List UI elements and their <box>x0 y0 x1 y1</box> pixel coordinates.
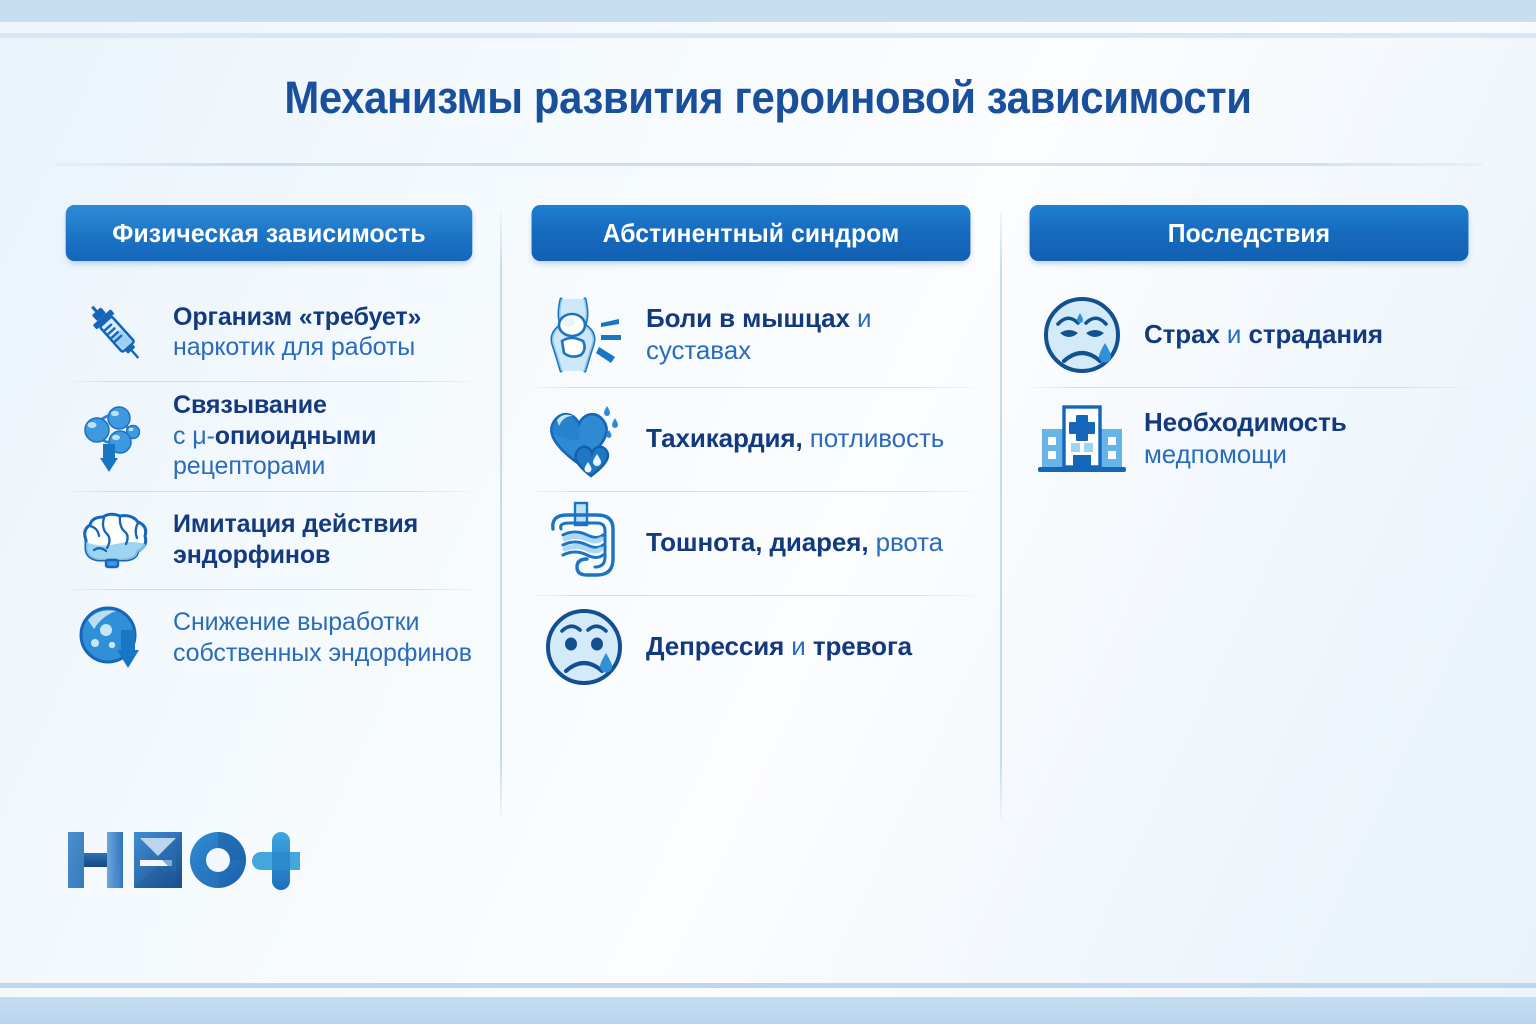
list-item-text: Связывание с μ-опиоидными рецепторами <box>173 390 376 482</box>
column-physical-dependence: Физическая зависимость <box>55 205 483 687</box>
list-item[interactable]: Снижение выработки собственных эндорфино… <box>55 589 483 687</box>
list-item-text: Необходимость медпомощи <box>1144 407 1347 470</box>
top-band <box>0 0 1536 22</box>
list-item[interactable]: Имитация действия эндорфинов <box>55 491 483 589</box>
list-item-text: Снижение выработки собственных эндорфино… <box>173 607 472 668</box>
list-item-text: Тошнота, диарея, рвота <box>646 527 943 559</box>
list-item-text: Депрессия и тревога <box>646 631 912 663</box>
item-line-3: рецепторами <box>173 452 325 480</box>
endorphin-decline-icon <box>73 598 157 678</box>
columns-container: Физическая зависимость <box>0 205 1536 825</box>
column-withdrawal-syndrome: Абстинентный синдром <box>520 205 982 699</box>
item-line-1c: тревога <box>813 631 912 661</box>
item-line-2: медпомощи <box>1144 439 1287 469</box>
item-line-2a: с μ- <box>173 422 215 450</box>
column-header-2: Абстинентный синдром <box>532 205 971 261</box>
column-1-items: Организм «требует» наркотик для работы <box>55 283 483 687</box>
molecule-receptor-icon <box>73 396 157 476</box>
list-item[interactable]: Боли в мышцах и суставах <box>520 283 982 387</box>
title-divider <box>55 163 1482 166</box>
heart-sweat-icon <box>538 396 630 482</box>
list-item[interactable]: Организм «требует» наркотик для работы <box>55 283 483 381</box>
item-line-1: Необходимость <box>1144 407 1347 437</box>
item-line-1b: потливость <box>803 423 945 453</box>
item-line-2: эндорфинов <box>173 541 330 569</box>
column-divider-1 <box>500 211 502 819</box>
item-line-1b: рвота <box>868 527 943 557</box>
item-line-1: Связывание <box>173 391 327 419</box>
list-item[interactable]: Необходимость медпомощи <box>1018 387 1480 491</box>
item-line-2b: опиоидными <box>215 422 377 450</box>
list-item[interactable]: Тахикардия, потливость <box>520 387 982 491</box>
list-item[interactable]: Тошнота, диарея, рвота <box>520 491 982 595</box>
item-line-1a: Депрессия <box>646 631 784 661</box>
list-item[interactable]: Депрессия и тревога <box>520 595 982 699</box>
item-line-1a: Тошнота, диарея, <box>646 527 868 557</box>
top-accent-line <box>0 33 1536 38</box>
bottom-band <box>0 997 1536 1024</box>
column-divider-2 <box>1000 211 1002 819</box>
item-line-1a: Тахикардия, <box>646 423 803 453</box>
bottom-accent-line <box>0 983 1536 988</box>
item-line-1: Снижение выработки <box>173 608 419 636</box>
item-line-1a: Страх <box>1144 319 1220 349</box>
item-line-1b: и <box>1220 319 1249 349</box>
column-consequences: Последствия <box>1018 205 1480 491</box>
infographic-poster: Механизмы развития героиновой зависимост… <box>0 0 1536 1024</box>
sad-face-tear-icon <box>538 604 630 690</box>
column-3-items: Страх и страдания <box>1018 283 1480 491</box>
item-line-1c: страдания <box>1248 319 1382 349</box>
item-line-2: наркотик для работы <box>173 333 415 361</box>
intestines-icon <box>538 500 630 586</box>
list-item-text: Тахикардия, потливость <box>646 423 944 455</box>
column-header-1: Физическая зависимость <box>66 205 473 261</box>
list-item[interactable]: Связывание с μ-опиоидными рецепторами <box>55 381 483 491</box>
column-header-3: Последствия <box>1030 205 1469 261</box>
list-item-text: Организм «требует» наркотик для работы <box>173 302 421 363</box>
list-item-text: Боли в мышцах и суставах <box>646 303 982 366</box>
syringe-icon <box>73 292 157 372</box>
list-item-text: Страх и страдания <box>1144 319 1383 351</box>
neo-plus-logo: НЕО+ <box>60 818 300 904</box>
item-line-1a: Боли в мышцах <box>646 303 850 333</box>
list-item[interactable]: Страх и страдания <box>1018 283 1480 387</box>
knee-joint-pain-icon <box>538 292 630 378</box>
column-2-items: Боли в мышцах и суставах <box>520 283 982 699</box>
item-line-2: собственных эндорфинов <box>173 639 472 667</box>
list-item-text: Имитация действия эндорфинов <box>173 509 418 570</box>
logo-mark <box>60 818 300 904</box>
item-line-1b: и <box>784 631 813 661</box>
brain-icon <box>73 500 157 580</box>
worried-face-tear-icon <box>1036 292 1128 378</box>
hospital-icon <box>1036 396 1128 482</box>
page-title: Механизмы развития героиновой зависимост… <box>54 72 1482 124</box>
item-line-1: Организм «требует» <box>173 303 421 331</box>
item-line-1: Имитация действия <box>173 510 418 538</box>
